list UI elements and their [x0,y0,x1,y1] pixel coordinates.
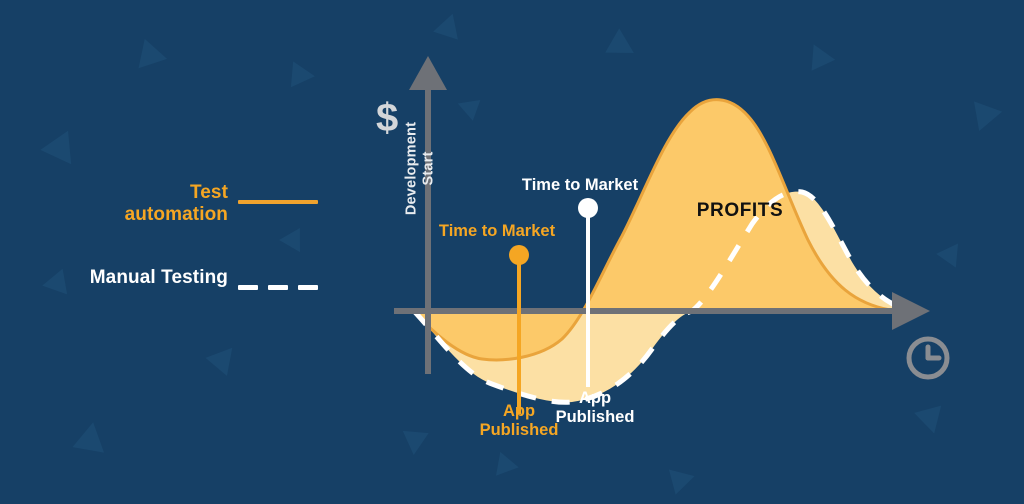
y-axis-caption-line2: Start [420,152,436,186]
infographic-canvas: Test automation Manual Testing [0,0,1024,504]
app-published-line2: Published [480,421,559,439]
legend-label-manual-testing: Manual Testing [0,267,228,289]
legend-item-test-automation[interactable]: Test automation [0,186,340,246]
legend: Test automation Manual Testing [0,186,340,306]
legend-item-manual-testing[interactable]: Manual Testing [0,246,340,306]
legend-label-line1: Test [190,182,228,203]
legend-label-test-automation: Test automation [0,182,228,227]
y-axis-caption: Development Start [403,94,436,244]
currency-symbol: $ [376,98,398,138]
legend-swatch-dashed-line [238,285,318,290]
x-axis-arrowhead [892,292,930,330]
clock-icon [909,339,947,377]
app-published-line2: Published [556,408,635,426]
legend-label-line2: automation [125,204,228,225]
chart-area: $ Development Start PROFITS Time to Mark… [352,44,1024,464]
app-published-label-test-automation: App Published [480,402,559,440]
y-axis-arrowhead [409,56,447,90]
app-published-line1: App [503,402,535,420]
legend-swatch-solid-line [238,200,318,204]
profits-label: PROFITS [697,200,784,222]
app-published-line1: App [579,389,611,407]
chart-svg [352,44,1024,464]
y-axis-caption-line1: Development [403,122,419,215]
app-published-label-manual-testing: App Published [556,389,635,427]
time-to-market-label-test-automation: Time to Market [439,222,555,241]
time-to-market-label-manual-testing: Time to Market [522,176,638,195]
